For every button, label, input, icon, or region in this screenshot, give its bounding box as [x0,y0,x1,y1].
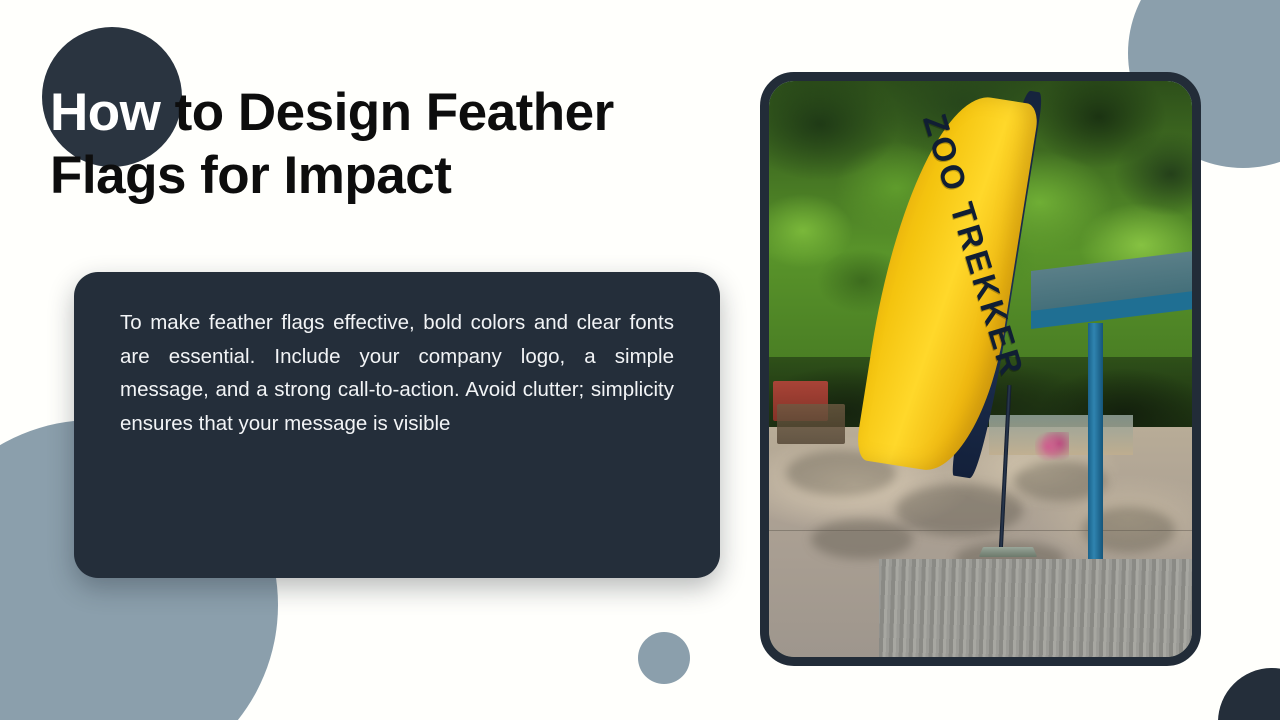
title-line-1-rest: to Design Feather [160,83,613,142]
flag-base-plate [979,547,1038,557]
body-paragraph: To make feather flags effective, bold co… [120,306,674,440]
title-line-1: How to Design Feather [50,82,710,145]
wooden-deck [879,559,1192,657]
page-title: How to Design Feather Flags for Impact [50,82,710,207]
feather-flag: ZOO TREKKER [854,93,1099,565]
flag-pole [999,385,1012,555]
slide-canvas: How to Design Feather Flags for Impact T… [0,0,1280,720]
feather-flag-photo: ZOO TREKKER [769,81,1192,657]
decor-circle-small [638,632,690,684]
decor-circle-bottom-right [1218,668,1280,720]
title-highlight-word: How [50,83,160,142]
title-line-2: Flags for Impact [50,145,710,208]
bench [777,404,845,444]
body-text-card: To make feather flags effective, bold co… [74,272,720,578]
photo-frame: ZOO TREKKER [760,72,1201,666]
